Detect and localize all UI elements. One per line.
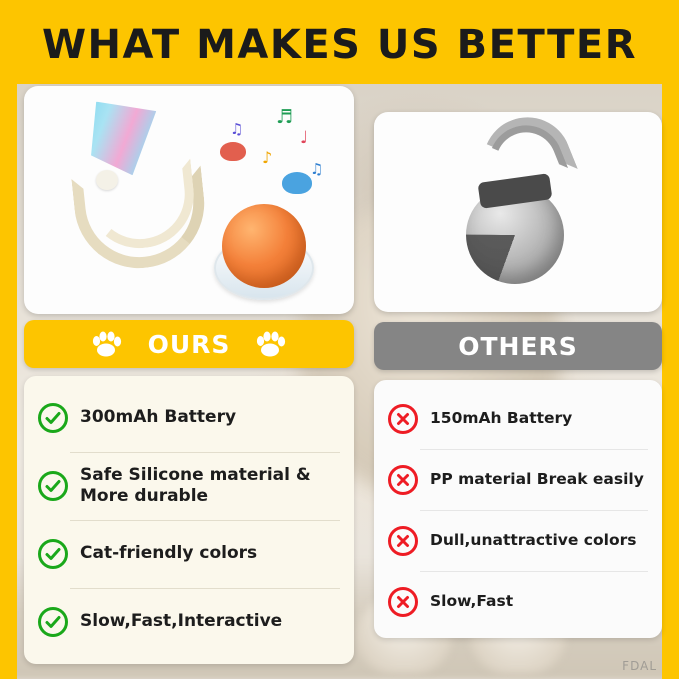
column-others: OTHERS 150mAh Battery PP material Break … — [374, 86, 662, 638]
music-note-icon: ♫ — [230, 120, 243, 138]
others-illustration — [374, 112, 662, 312]
page-title: WHAT MAKES US BETTER — [0, 22, 679, 68]
list-item-label: 150mAh Battery — [430, 409, 572, 428]
check-circle-icon — [38, 607, 68, 637]
frame-right-bar — [662, 0, 679, 679]
cone-tip-icon — [96, 170, 118, 190]
list-item: Slow,Fast,Interactive — [24, 588, 354, 656]
ours-feature-list: 300mAh Battery Safe Silicone material & … — [24, 376, 354, 664]
music-note-icon: ♬ — [276, 106, 293, 128]
list-item-label: Slow,Fast,Interactive — [80, 611, 282, 632]
list-item: Dull,unattractive colors — [374, 510, 662, 571]
ours-illustration: ♫ ♬ ♩ ♪ ♫ — [24, 86, 354, 314]
comparison-infographic: WHAT MAKES US BETTER ♫ ♬ ♩ ♪ ♫ — [0, 0, 679, 679]
bird-icon — [282, 172, 312, 194]
list-item: Safe Silicone material & More durable — [24, 452, 354, 520]
paw-icon — [92, 331, 122, 357]
cross-circle-icon — [388, 587, 418, 617]
music-note-icon: ♫ — [310, 160, 323, 178]
cross-circle-icon — [388, 404, 418, 434]
music-note-icon: ♪ — [262, 148, 272, 167]
bird-icon — [220, 142, 246, 161]
others-product-image — [374, 112, 662, 312]
list-item: PP material Break easily — [374, 449, 662, 510]
check-circle-icon — [38, 471, 68, 501]
list-item-label: Dull,unattractive colors — [430, 531, 636, 550]
cross-circle-icon — [388, 465, 418, 495]
list-item: 300mAh Battery — [24, 384, 354, 452]
orange-ball-icon — [222, 204, 306, 288]
others-title-bar: OTHERS — [374, 322, 662, 370]
list-item-label: Slow,Fast — [430, 592, 513, 611]
others-feature-list: 150mAh Battery PP material Break easily … — [374, 380, 662, 638]
list-item-label: PP material Break easily — [430, 470, 644, 489]
list-item-label: 300mAh Battery — [80, 407, 236, 428]
paw-icon — [256, 331, 286, 357]
cross-circle-icon — [388, 526, 418, 556]
list-item: 150mAh Battery — [374, 388, 662, 449]
music-note-icon: ♩ — [300, 128, 308, 148]
list-item-label: Safe Silicone material & More durable — [80, 465, 340, 508]
list-item: Slow,Fast — [374, 571, 662, 632]
watermark: FDAL — [622, 659, 657, 673]
list-item: Cat-friendly colors — [24, 520, 354, 588]
others-title-label: OTHERS — [458, 332, 578, 361]
list-item-label: Cat-friendly colors — [80, 543, 257, 564]
frame-left-bar — [0, 0, 17, 679]
ours-title-label: OURS — [148, 330, 231, 359]
check-circle-icon — [38, 539, 68, 569]
column-ours: ♫ ♬ ♩ ♪ ♫ OURS — [24, 86, 354, 664]
check-circle-icon — [38, 403, 68, 433]
ours-title-bar: OURS — [24, 320, 354, 368]
ours-product-image: ♫ ♬ ♩ ♪ ♫ — [24, 86, 354, 314]
